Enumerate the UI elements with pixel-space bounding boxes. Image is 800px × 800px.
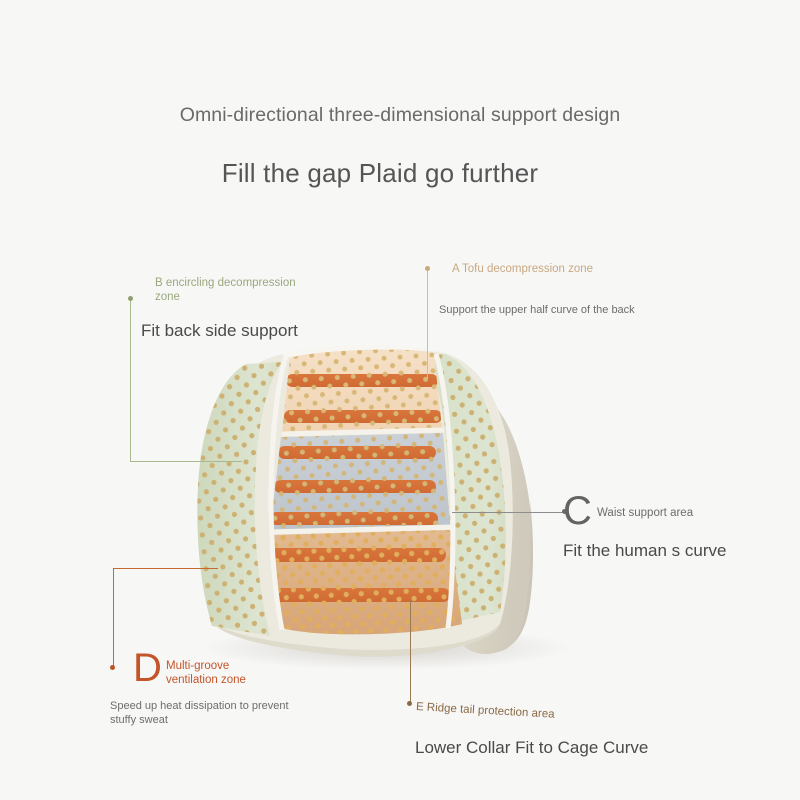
infographic-canvas: Omni-directional three-dimensional suppo… bbox=[0, 0, 800, 800]
subheading: Omni-directional three-dimensional suppo… bbox=[0, 104, 800, 127]
zone-c-headline: Fit the human s curve bbox=[563, 541, 726, 561]
leader-line-b-vertical bbox=[130, 300, 131, 462]
zone-c-letter: C bbox=[563, 491, 592, 531]
zone-a-label: A Tofu decompression zone bbox=[452, 262, 593, 276]
leader-line-d-vertical bbox=[113, 568, 114, 668]
leader-line-c bbox=[452, 512, 564, 513]
zone-d-description: Speed up heat dissipation to prevent stu… bbox=[110, 699, 350, 727]
leader-dot-b bbox=[128, 296, 133, 301]
leader-dot-a bbox=[425, 266, 430, 271]
product-illustration bbox=[186, 336, 598, 672]
zone-c-label: Waist support area bbox=[597, 506, 693, 520]
zone-a-description: Support the upper half curve of the back bbox=[439, 303, 669, 317]
zone-b-label: B encircling decompression zone bbox=[155, 276, 335, 304]
leader-line-a bbox=[427, 271, 428, 379]
leader-dot-e bbox=[407, 701, 412, 706]
page-title: Fill the gap Plaid go further bbox=[0, 158, 760, 189]
zone-b-headline: Fit back side support bbox=[141, 321, 298, 341]
leader-dot-d bbox=[110, 665, 115, 670]
zone-c-panel bbox=[256, 426, 466, 538]
zone-de-panel bbox=[256, 526, 476, 641]
zone-d-letter: D bbox=[133, 648, 162, 688]
leader-line-e bbox=[410, 600, 411, 704]
zone-e-label: E Ridge tail protection area bbox=[416, 700, 555, 722]
zone-e-headline: Lower Collar Fit to Cage Curve bbox=[415, 738, 648, 758]
zone-d-label: Multi-groove ventilation zone bbox=[166, 659, 296, 687]
leader-line-b-horizontal bbox=[130, 461, 242, 462]
leader-line-d-horizontal bbox=[113, 568, 218, 569]
